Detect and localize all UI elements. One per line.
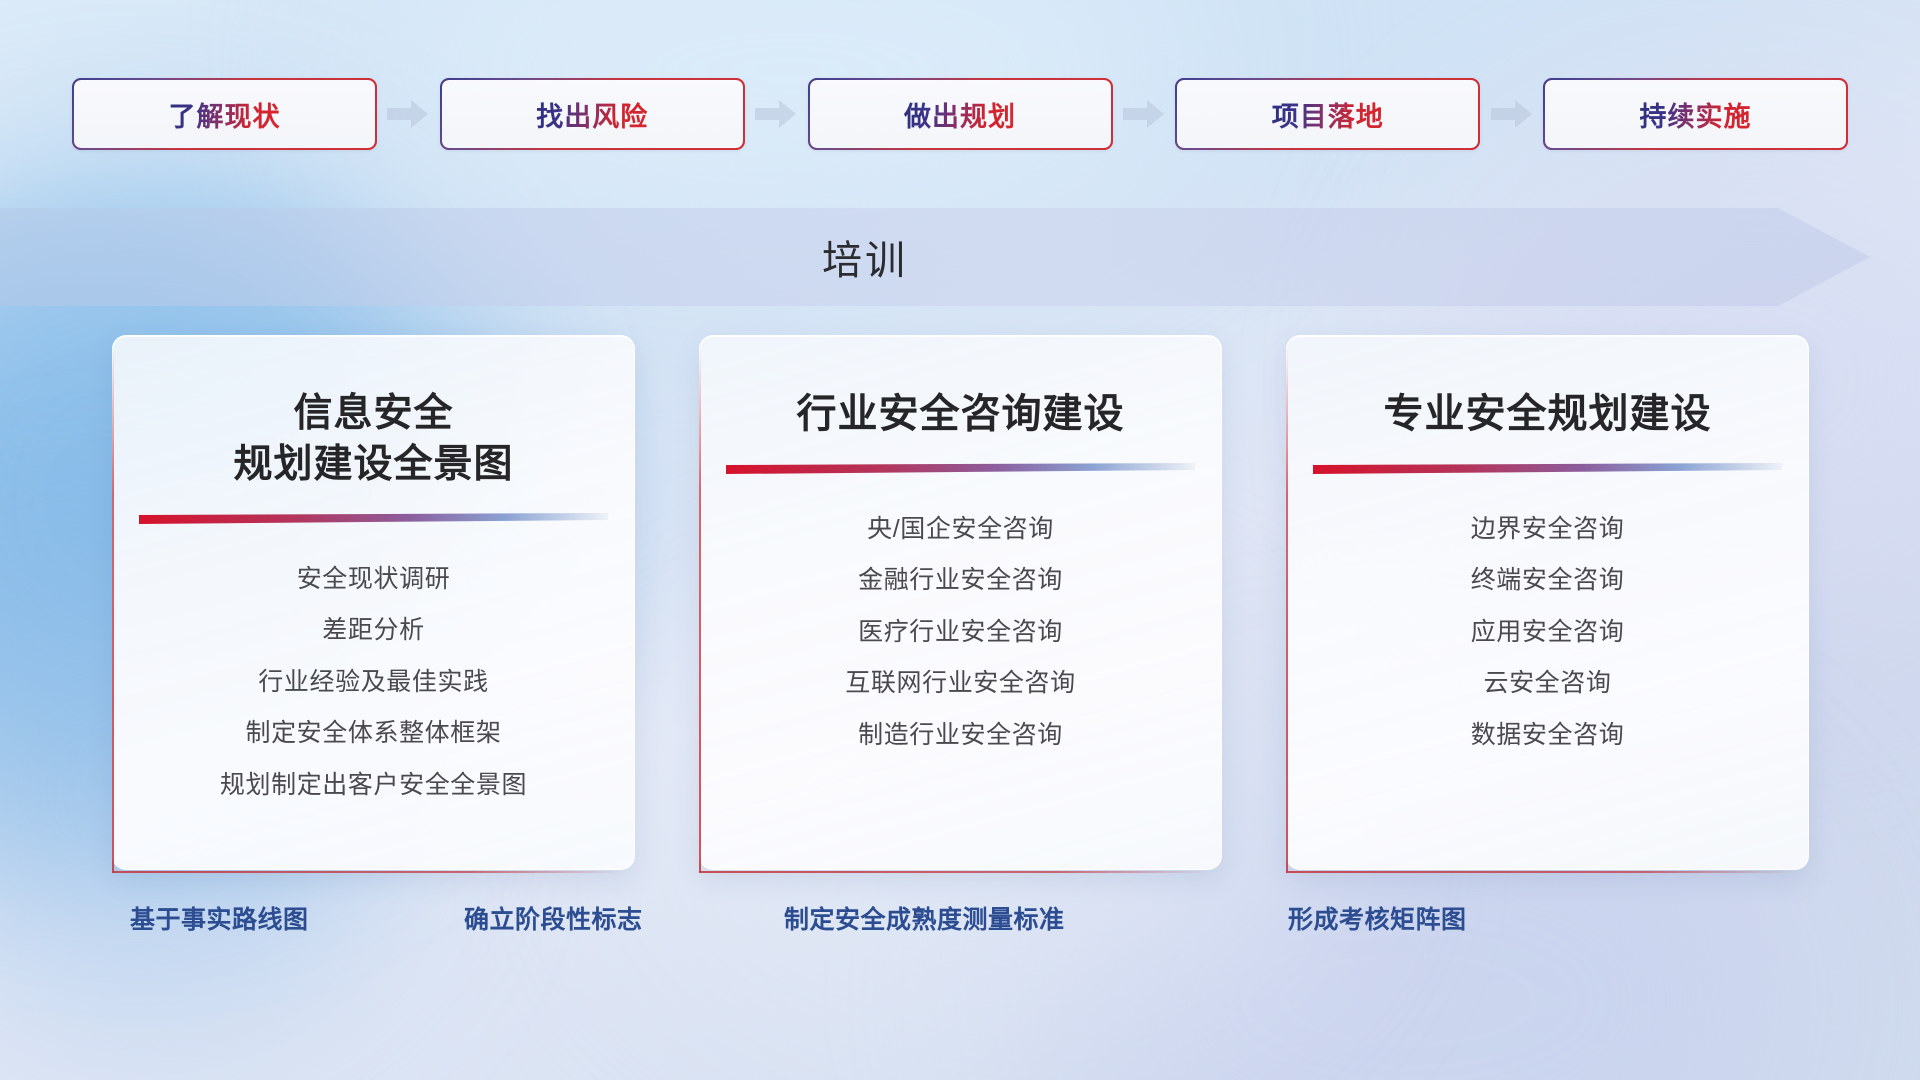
list-item: 制定安全体系整体框架	[139, 708, 608, 760]
footnote-label-1: 确立阶段性标志	[464, 900, 643, 936]
process-step-label: 做出规划	[904, 95, 1016, 134]
process-step-label: 找出风险	[536, 95, 648, 134]
card-list: 央/国企安全咨询 金融行业安全咨询 医疗行业安全咨询 互联网行业安全咨询 制造行…	[726, 504, 1195, 762]
process-step-label: 持续实施	[1640, 95, 1752, 134]
step-connector-arrow-icon	[745, 99, 808, 129]
card-divider-rule	[1313, 463, 1782, 474]
process-step-3[interactable]: 项目落地	[1175, 78, 1480, 150]
card-title: 行业安全咨询建设	[797, 388, 1125, 441]
list-item: 云安全咨询	[1313, 658, 1782, 710]
process-step-4[interactable]: 持续实施	[1543, 78, 1848, 150]
process-step-2[interactable]: 做出规划	[808, 78, 1113, 150]
list-item: 差距分析	[139, 605, 608, 657]
step-connector-arrow-icon	[377, 99, 440, 129]
step-connector-arrow-icon	[1113, 99, 1176, 129]
training-banner: 培训	[0, 208, 1870, 306]
card-row: 信息安全 规划建设全景图 安全现状调研	[112, 335, 1812, 870]
list-item: 央/国企安全咨询	[726, 504, 1195, 556]
process-step-1[interactable]: 找出风险	[440, 78, 745, 150]
step-connector-arrow-icon	[1480, 99, 1543, 129]
card-title: 专业安全规划建设	[1384, 388, 1712, 441]
process-step-label: 项目落地	[1272, 95, 1384, 134]
card-industry-security-consulting[interactable]: 行业安全咨询建设 央/国企安全咨询	[699, 335, 1222, 870]
list-item: 安全现状调研	[139, 554, 608, 606]
banner-label: 培训	[0, 208, 1870, 306]
card-bottom-accent	[112, 871, 620, 873]
card-divider-rule	[726, 463, 1195, 474]
card-bottom-accent	[699, 871, 1207, 873]
process-step-0[interactable]: 了解现状	[72, 78, 377, 150]
list-item: 医疗行业安全咨询	[726, 607, 1195, 659]
list-item: 制造行业安全咨询	[726, 710, 1195, 762]
list-item: 金融行业安全咨询	[726, 555, 1195, 607]
slide-canvas: 了解现状 找出风险 做出规划 项目落地	[0, 0, 1920, 1080]
process-step-label: 了解现状	[169, 95, 281, 134]
process-step-row: 了解现状 找出风险 做出规划 项目落地	[72, 78, 1848, 150]
card-left-accent	[1286, 346, 1288, 873]
list-item: 边界安全咨询	[1313, 504, 1782, 556]
list-item: 数据安全咨询	[1313, 710, 1782, 762]
footnote-row: 基于事实路线图 确立阶段性标志 制定安全成熟度测量标准 形成考核矩阵图	[0, 900, 1920, 960]
card-left-accent	[112, 346, 114, 873]
footnote-label-0: 基于事实路线图	[130, 900, 309, 936]
card-left-accent	[699, 346, 701, 873]
card-list: 边界安全咨询 终端安全咨询 应用安全咨询 云安全咨询 数据安全咨询	[1313, 504, 1782, 762]
card-divider-rule	[139, 513, 608, 524]
list-item: 行业经验及最佳实践	[139, 657, 608, 709]
footnote-label-2: 制定安全成熟度测量标准	[784, 900, 1065, 936]
list-item: 规划制定出客户安全全景图	[139, 760, 608, 812]
footnote-label-3: 形成考核矩阵图	[1288, 900, 1467, 936]
card-info-security-panorama[interactable]: 信息安全 规划建设全景图 安全现状调研	[112, 335, 635, 870]
card-title: 信息安全 规划建设全景图	[233, 388, 513, 491]
list-item: 互联网行业安全咨询	[726, 658, 1195, 710]
list-item: 终端安全咨询	[1313, 555, 1782, 607]
card-bottom-accent	[1286, 871, 1794, 873]
list-item: 应用安全咨询	[1313, 607, 1782, 659]
card-professional-security-planning[interactable]: 专业安全规划建设 边界安全咨询	[1286, 335, 1809, 870]
card-list: 安全现状调研 差距分析 行业经验及最佳实践 制定安全体系整体框架 规划制定出客户…	[139, 554, 608, 812]
